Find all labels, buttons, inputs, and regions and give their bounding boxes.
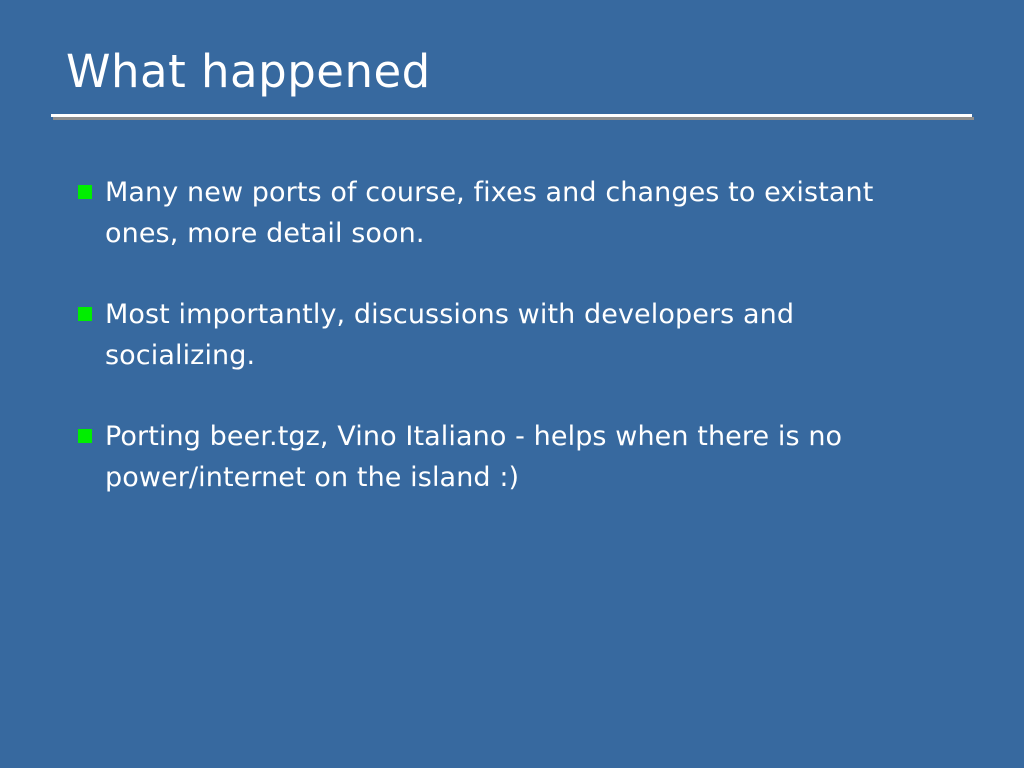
list-item-text: Porting beer.tgz, Vino Italiano - helps … [105, 416, 935, 498]
list-item: Porting beer.tgz, Vino Italiano - helps … [76, 416, 976, 498]
presentation-slide: What happened Many new ports of course, … [0, 0, 1024, 768]
title-underline-rule [51, 114, 972, 117]
bullet-list: Many new ports of course, fixes and chan… [76, 172, 976, 498]
list-item-text: Many new ports of course, fixes and chan… [105, 172, 935, 254]
green-square-bullet-icon [78, 185, 92, 199]
green-square-bullet-icon [78, 429, 92, 443]
list-item: Most importantly, discussions with devel… [76, 294, 976, 376]
green-square-bullet-icon [78, 307, 92, 321]
page-title: What happened [66, 48, 966, 95]
list-item-text: Most importantly, discussions with devel… [105, 294, 935, 376]
list-item: Many new ports of course, fixes and chan… [76, 172, 976, 254]
